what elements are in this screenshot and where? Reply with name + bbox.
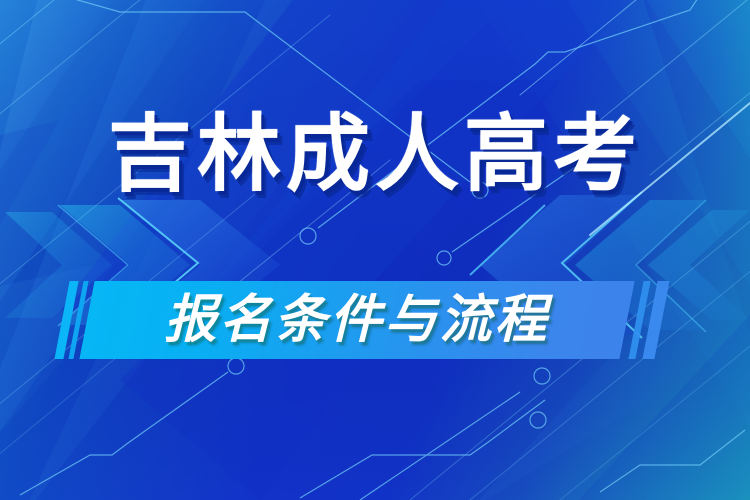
circuit-node-icon [228, 358, 244, 374]
main-title-container: 吉林成人高考 [0, 112, 750, 196]
subtitle-container: 报名条件与流程 [87, 281, 627, 359]
circuit-trace-bottom-right-b [360, 392, 520, 500]
circuit-node-icon [530, 412, 546, 428]
circuit-node-icon [534, 368, 550, 384]
main-title: 吉林成人高考 [108, 112, 642, 196]
background-gradient-center [0, 0, 750, 500]
circuit-trace-bottom-right-a [300, 400, 545, 498]
stripe-band-left [0, 0, 430, 500]
circuit-trace-group [20, 0, 745, 500]
center-wedge-group [60, 0, 640, 500]
circuit-trace-right-margin [600, 430, 745, 492]
subtitle-text: 报名条件与流程 [164, 294, 549, 346]
stripe-band-right [470, 0, 750, 500]
circuit-node-icon [300, 228, 316, 244]
accent-line-group [0, 0, 750, 500]
poster-canvas: 吉林成人高考 报名条件与流程 [0, 0, 750, 500]
diagonal-stripe-group [0, 0, 750, 500]
circuit-trace-bottom-left [20, 372, 228, 495]
circuit-node-icon [437, 251, 451, 265]
background-gradient-right [0, 0, 750, 500]
background-gradient-left [0, 0, 750, 500]
